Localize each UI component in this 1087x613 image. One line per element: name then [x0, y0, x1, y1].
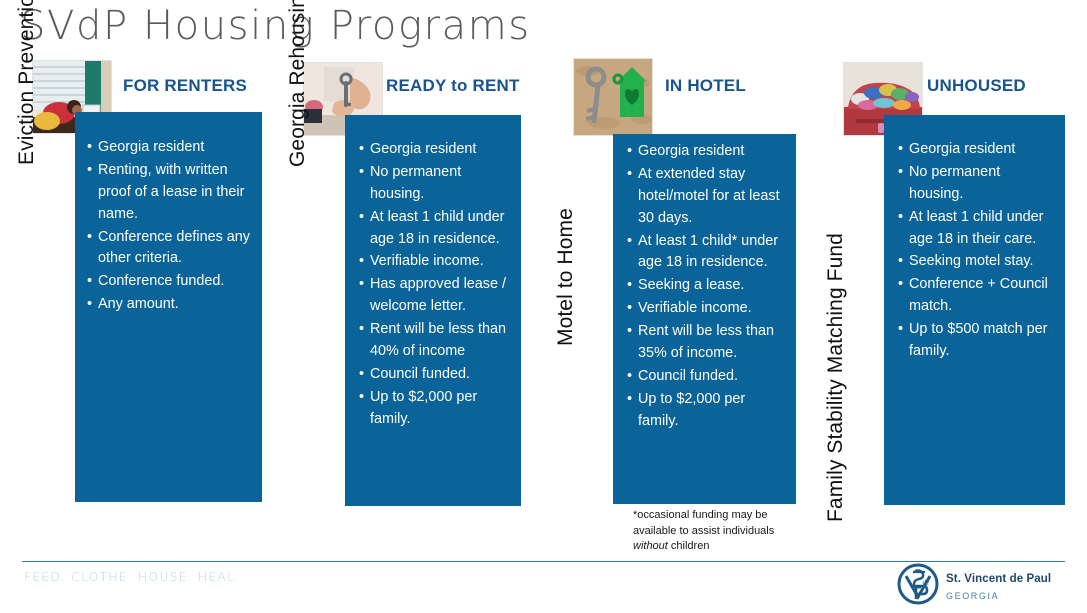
criteria-item: Georgia resident [898, 139, 1053, 161]
criteria-item: Rent will be less than 35% of income. [627, 321, 784, 365]
criteria-item: Georgia resident [627, 141, 784, 163]
criteria-item: Council funded. [627, 366, 784, 388]
photo-key-with-green-house-tag [573, 58, 653, 136]
svg-text:de: de [923, 579, 930, 587]
footer-divider [22, 561, 1065, 562]
criteria-item: Verifiable income. [359, 251, 509, 273]
vertical-label-family-stability-matching-fund: Family Stability Matching Fund [824, 233, 848, 522]
criteria-list-unhoused: Georgia resident No permanent housing. A… [884, 115, 1065, 363]
criteria-item: No permanent housing. [359, 162, 509, 206]
criteria-panel-unhoused: Georgia resident No permanent housing. A… [884, 115, 1065, 505]
logo-organization-name: St. Vincent de Paul [946, 573, 1051, 585]
program-column-unhoused: UNHOUSED Family Stability Matching Fund … [0, 0, 275, 613]
logo-text-block: St. Vincent de Paul GEORGIA [946, 570, 1051, 604]
column-heading-ready-to-rent: READY to RENT [386, 76, 520, 96]
vertical-label-motel-to-home: Motel to Home [554, 208, 578, 346]
logo-region: GEORGIA [946, 591, 999, 601]
criteria-item: Georgia resident [359, 139, 509, 161]
footnote-emphasis: without [633, 540, 668, 552]
criteria-panel-ready-to-rent: Georgia resident No permanent housing. A… [345, 115, 521, 506]
footnote-in-hotel: *occasional funding may be available to … [633, 508, 803, 555]
footer-tagline: FEED. CLOTHE. HOUSE. HEAL. [24, 569, 240, 584]
criteria-item: Up to $500 match per family. [898, 319, 1053, 363]
criteria-item: At least 1 child* under age 18 in reside… [627, 231, 784, 275]
footnote-line-3-tail: children [668, 540, 710, 552]
slide-canvas: SVdP Housing Programs [0, 0, 1087, 613]
criteria-item: No permanent housing. [898, 162, 1053, 206]
criteria-list-in-hotel: Georgia resident At extended stay hotel/… [613, 134, 796, 433]
criteria-panel-in-hotel: Georgia resident At extended stay hotel/… [613, 134, 796, 504]
criteria-item: At least 1 child under age 18 in their c… [898, 207, 1053, 251]
criteria-item: Up to $2,000 per family. [359, 387, 509, 431]
column-heading-unhoused: UNHOUSED [927, 76, 1026, 96]
criteria-item: Seeking motel stay. [898, 251, 1053, 273]
criteria-item: Verifiable income. [627, 298, 784, 320]
footnote-line-2: available to assist individuals [633, 525, 774, 537]
criteria-item: Has approved lease / welcome letter. [359, 274, 509, 318]
criteria-item: At least 1 child under age 18 in residen… [359, 207, 509, 251]
svdp-monogram-icon: de [897, 563, 939, 610]
criteria-list-ready-to-rent: Georgia resident No permanent housing. A… [345, 115, 521, 431]
criteria-item: Seeking a lease. [627, 275, 784, 297]
criteria-item: Council funded. [359, 364, 509, 386]
column-heading-in-hotel: IN HOTEL [665, 76, 746, 96]
criteria-item: Conference + Council match. [898, 274, 1053, 318]
vertical-label-georgia-rehousing-initiative: Georgia Rehousing Initiative [286, 0, 310, 167]
criteria-item: Rent will be less than 40% of income [359, 319, 509, 363]
footnote-line-1: *occasional funding may be [633, 509, 768, 521]
criteria-item: At extended stay hotel/motel for at leas… [627, 164, 784, 230]
criteria-item: Up to $2,000 per family. [627, 389, 784, 433]
svdp-logo: de St. Vincent de Paul GEORGIA [897, 563, 1051, 610]
